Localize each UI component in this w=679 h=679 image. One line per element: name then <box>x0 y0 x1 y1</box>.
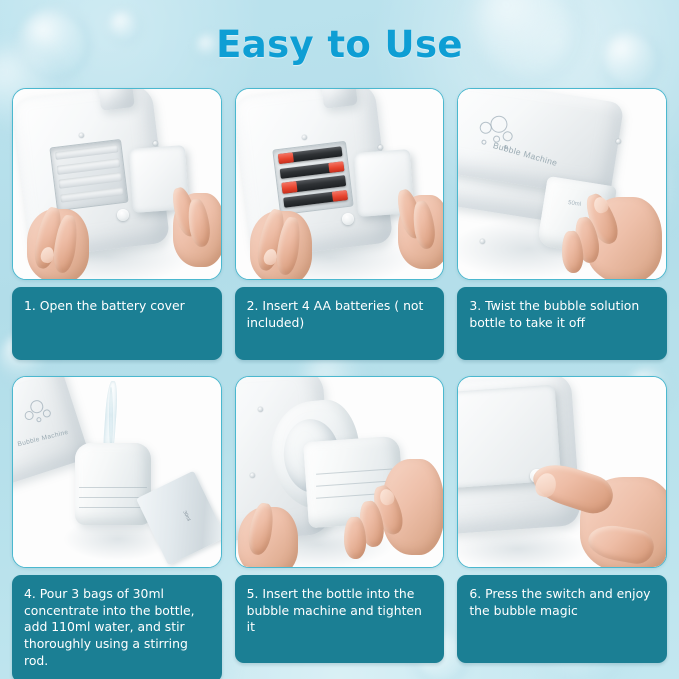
step-caption-3: 3. Twist the bubble solution bottle to t… <box>457 287 667 360</box>
battery-slot <box>54 144 118 160</box>
water-stream-highlight <box>109 387 113 449</box>
battery-bay-loaded <box>272 141 353 216</box>
power-button <box>117 209 129 221</box>
battery-slot <box>56 158 120 174</box>
scene-open-battery-cover <box>13 89 221 279</box>
step-photo-5 <box>235 376 445 568</box>
step-card-2: 2. Insert 4 AA batteries ( not included) <box>235 88 445 360</box>
step-card-1: 1. Open the battery cover <box>12 88 222 360</box>
screw-icon <box>378 145 383 150</box>
step-card-4: Bubble Machine 30ml 4. Pour 3 bags of 30… <box>12 376 222 679</box>
step-caption-2: 2. Insert 4 AA batteries ( not included) <box>235 287 445 360</box>
screw-icon <box>79 133 84 138</box>
power-button <box>342 213 354 225</box>
photo-shadow <box>458 527 588 567</box>
bottle-ring <box>79 507 147 508</box>
step-card-6: 6. Press the switch and enjoy the bubble… <box>457 376 667 679</box>
battery-slot <box>58 172 122 188</box>
battery-terminal <box>328 161 344 173</box>
step-card-5: 5. Insert the bottle into the bubble mac… <box>235 376 445 679</box>
scene-press-switch <box>458 377 666 567</box>
battery-slot <box>60 187 124 203</box>
battery-terminal <box>278 152 294 164</box>
finger <box>343 517 366 560</box>
scene-insert-batteries <box>236 89 444 279</box>
screw-icon <box>250 473 255 478</box>
solution-bottle <box>75 443 151 525</box>
page-root: Easy to Use <box>0 0 679 679</box>
step-photo-2 <box>235 88 445 280</box>
scene-pour-concentrate: Bubble Machine 30ml <box>13 377 221 567</box>
step-photo-4: Bubble Machine 30ml <box>12 376 222 568</box>
page-title: Easy to Use <box>216 26 463 63</box>
step-caption-1: 1. Open the battery cover <box>12 287 222 360</box>
screw-icon <box>302 135 307 140</box>
screw-icon <box>258 407 263 412</box>
step-photo-6 <box>457 376 667 568</box>
steps-grid: 1. Open the battery cover <box>0 88 679 679</box>
battery-terminal <box>281 181 297 193</box>
step-caption-5: 5. Insert the bottle into the bubble mac… <box>235 575 445 663</box>
battery-bay-empty <box>49 139 128 211</box>
scene-twist-bottle: Bubble Machine 50ml <box>458 89 666 279</box>
step-photo-1 <box>12 88 222 280</box>
battery-terminal <box>332 190 348 202</box>
step-photo-3: Bubble Machine 50ml <box>457 88 667 280</box>
step-caption-6: 6. Press the switch and enjoy the bubble… <box>457 575 667 663</box>
step-card-3: Bubble Machine 50ml <box>457 88 667 360</box>
scene-insert-bottle <box>236 377 444 567</box>
screw-icon <box>153 141 158 146</box>
screw-icon <box>616 139 621 144</box>
bottle-ring <box>79 487 147 488</box>
header: Easy to Use <box>0 0 679 88</box>
step-caption-4: 4. Pour 3 bags of 30ml concentrate into … <box>12 575 222 679</box>
